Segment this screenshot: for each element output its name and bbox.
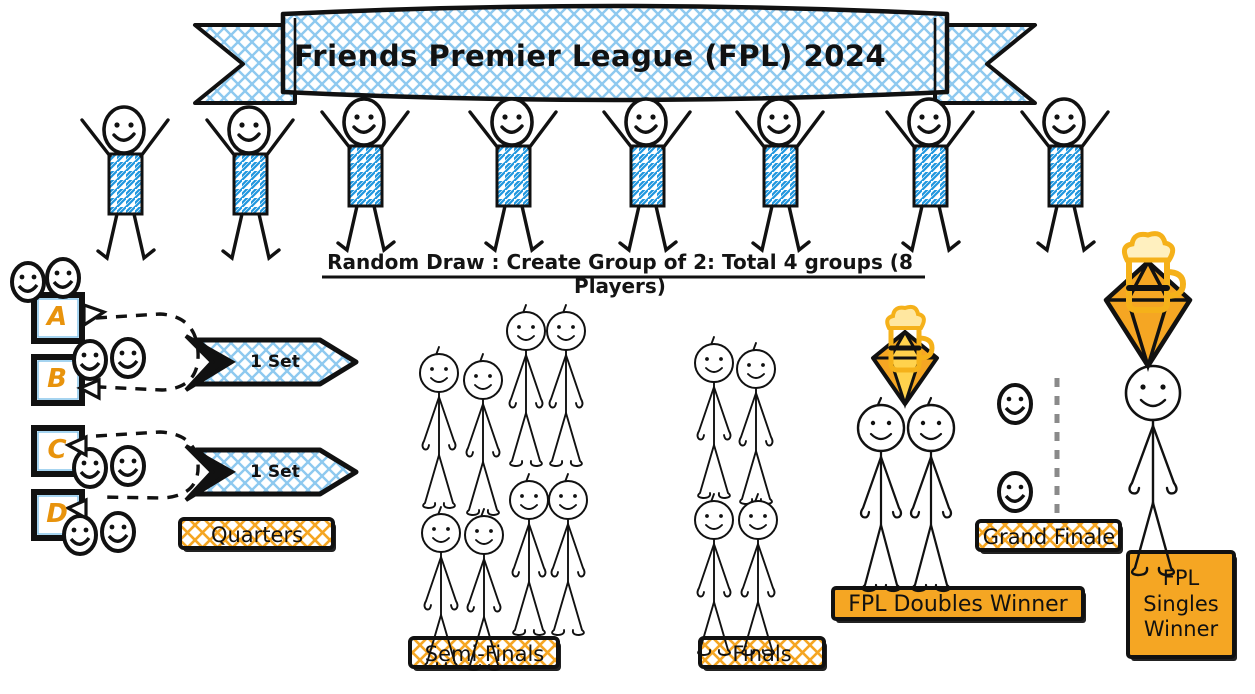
- page-title: Friends Premier League (FPL) 2024: [290, 32, 890, 80]
- tag-label-grand-finale[interactable]: Grand Finale: [978, 525, 1120, 549]
- tag-label-finals[interactable]: Finals: [700, 642, 824, 666]
- grand-finale-heads: [999, 378, 1057, 515]
- diagram-canvas: [0, 0, 1255, 694]
- set-label-2: 1 Set: [215, 462, 335, 482]
- group-label-a[interactable]: A: [34, 302, 80, 332]
- tournament-diagram: Friends Premier League (FPL) 2024 Random…: [0, 0, 1255, 694]
- group-label-d[interactable]: D: [34, 499, 80, 529]
- singles-winner-line-1: FPL: [1163, 566, 1199, 592]
- tag-label-doubles-winner[interactable]: FPL Doubles Winner: [833, 592, 1083, 617]
- tag-label-singles-winner[interactable]: FPL Singles Winner: [1128, 552, 1234, 657]
- celebrating-players-row: [82, 99, 1108, 258]
- tag-label-semifinals[interactable]: Semi-Finals: [411, 642, 558, 666]
- doubles-trophy-icon: [873, 307, 937, 404]
- group-label-c[interactable]: C: [34, 435, 80, 465]
- singles-trophy-icon: [1106, 234, 1190, 366]
- singles-winner-line-3: Winner: [1144, 617, 1218, 643]
- tag-label-quarters[interactable]: Quarters: [182, 523, 332, 547]
- subtitle-text: Random Draw : Create Group of 2: Total 4…: [320, 250, 920, 298]
- singles-winner-line-2: Singles: [1143, 592, 1219, 618]
- set-label-1: 1 Set: [215, 352, 335, 372]
- group-label-b[interactable]: B: [34, 364, 80, 394]
